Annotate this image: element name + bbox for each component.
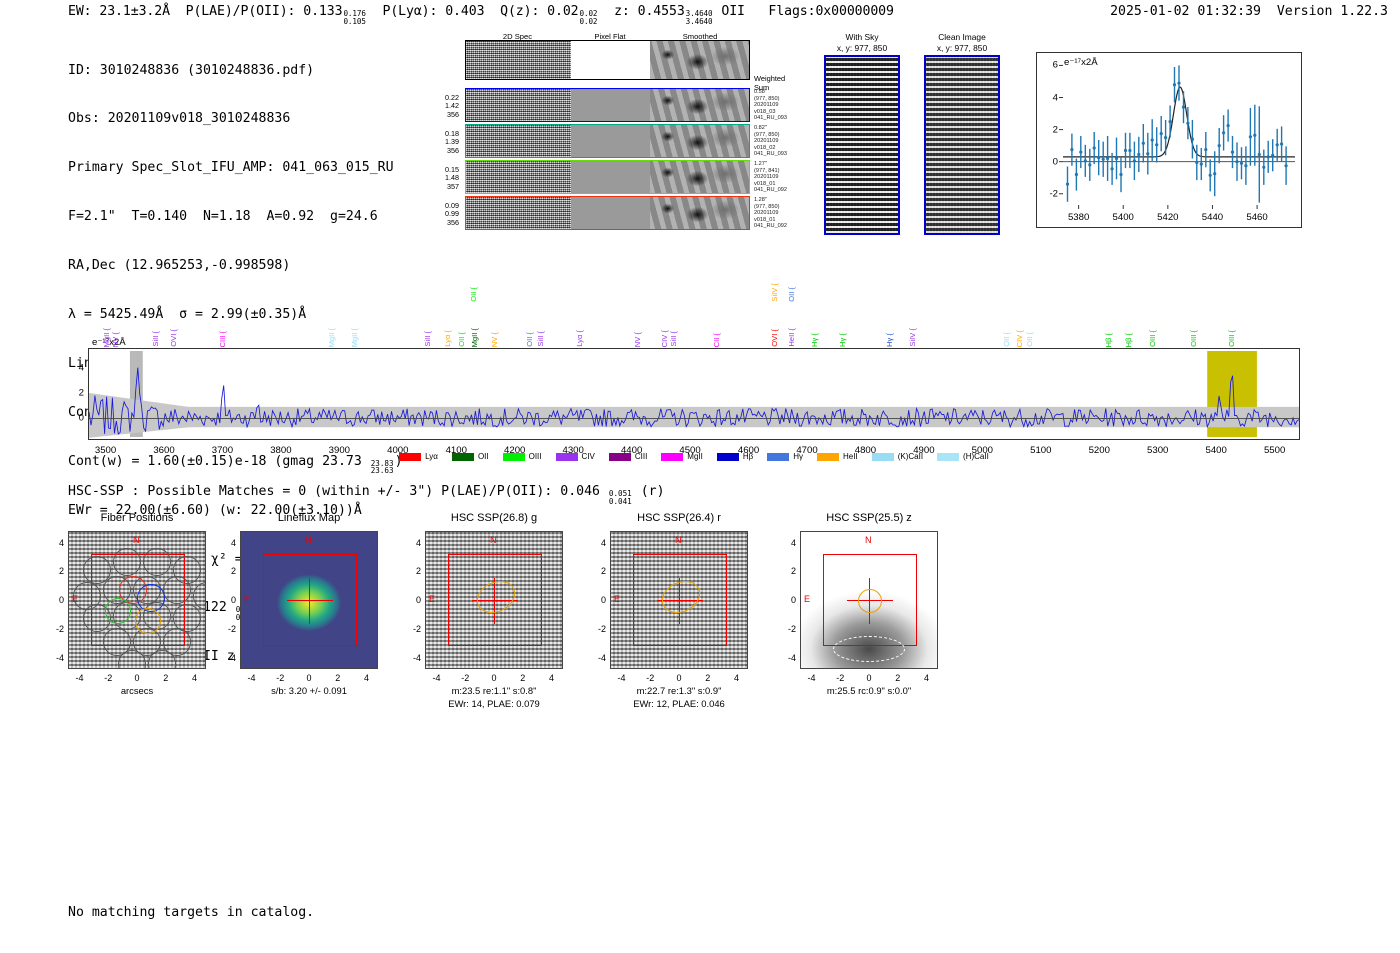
footer-line-1: No matching targets in catalog. [68,905,314,921]
with-sky-title-text: With Sky [845,32,878,42]
spectral-line-label: SiIV { [908,328,917,347]
panel-ytick: -4 [788,653,796,663]
zoom-plot-xtick: 5440 [1202,212,1223,223]
legend-item: CIII [609,452,647,461]
panel-ytick: -4 [413,653,421,663]
panel-xtick: -2 [836,673,844,683]
zoom-plot-ytick: 6 [1040,60,1058,71]
panel-xtick: 4 [192,673,197,683]
spec2d-row-metrics: 0.15 1.48 357 [425,166,459,191]
zoom-plot-ytick: -2 [1040,188,1058,199]
legend-label: OIII [529,452,542,461]
panel-ytick: -2 [788,624,796,634]
panel-image-frame[interactable]: NE [240,531,378,669]
flags-value: Flags:0x00000009 [768,4,893,19]
panel-caption: m:22.7 re:1.3" s:0.9" [637,684,722,697]
pixel-flat-image [571,41,650,79]
spec2d-row-fiber-info: 0.58" (977, 850) 20201109 v018_03 041_RU… [754,89,814,122]
zoom-plot-ytick: 4 [1040,92,1058,103]
spectral-line-label: Lyα { [443,330,452,347]
spectral-line-label: OVI { [169,329,178,347]
spectral-line-label: OII { [1002,332,1011,347]
legend-label: Hβ [743,452,753,461]
legend-swatch [872,453,894,461]
plya-label: P(Lyα): [382,4,437,19]
spec2d-row-fiber-info: 1.27" (977, 841) 20201109 v018_01 041_RU… [754,161,814,194]
hsc-ssp-match-line: HSC-SSP : Possible Matches = 0 (within +… [68,484,665,505]
legend-swatch [556,453,578,461]
full-spectrum-canvas [89,349,1299,439]
legend-label: HeII [843,452,858,461]
panel-ytick: -2 [598,624,606,634]
panel-xlabel: arcsecs [121,684,153,697]
panel-ytick: 2 [59,566,64,576]
panel-xtick: 0 [491,673,496,683]
spectral-line-label: Hγ { [885,333,894,347]
panel-frame-wrap: NE-4-4-2-2002244 [800,531,938,669]
zoom-plot-xtick: 5460 [1246,212,1267,223]
spec2d-row-images [465,196,750,230]
qz-bounds: 0.020.02 [580,10,598,25]
zoom-plot-ytick: 0 [1040,156,1058,167]
spectral-line-label: MgII { [327,328,336,347]
spectral-line-label: HeII { [787,328,796,347]
zoom-plot-ytick: 2 [1040,124,1058,135]
spectral-line-label: NV { [633,332,642,347]
panel-xtick: 4 [734,673,739,683]
panel-xtick: -2 [461,673,469,683]
legend-label: OII [478,452,489,461]
panel-ytick: 0 [231,595,236,605]
spec2d-row-metrics: 0.18 1.39 356 [425,130,459,155]
hsc-suffix: (r) [633,484,665,499]
clean-image-title: Clean Image x, y: 977, 850 [924,32,1000,53]
pixel-flat-image [571,197,650,229]
image-panel-gray-ellipse: HSC SSP(26.4) rNE-4-4-2-2002244m:22.7 re… [610,512,748,669]
spec2d-row-fiber-info: 1.28" (977, 850) 20201109 v018_01 041_RU… [754,197,814,230]
spec2d-row [465,160,750,194]
panel-ytick: -2 [228,624,236,634]
spectral-line-label: CIV { [1015,330,1024,347]
spectral-line-label: MgII { [350,328,359,347]
full-spectrum-ytick: 2 [79,388,84,399]
legend-item: MgII [661,452,703,461]
info-seeing: F=2.1" T=0.140 N=1.18 A=0.92 g=24.6 [68,209,403,225]
east-label: E [244,594,250,604]
spec2d-row [465,196,750,230]
spec2d-row-images [465,40,750,80]
spectral-line-label: OII { [1025,332,1034,347]
zoom-plot-xtick: 5400 [1113,212,1134,223]
spectral-line-label: Hγ { [810,333,819,347]
panel-ytick: 0 [601,595,606,605]
panel-ytick: 2 [416,566,421,576]
panel-title: HSC SSP(25.5) z [800,512,938,526]
panel-caption: m:23.5 re:1.1" s:0.8" [452,684,537,697]
panel-title: Fiber Positions [68,512,206,526]
spectral-line-label: Lyα { [575,330,584,347]
panel-ytick: -4 [228,653,236,663]
spec2d-image [466,125,571,157]
panel-ytick: -2 [413,624,421,634]
hsc-prefix: HSC-SSP : Possible Matches = 0 (within +… [68,484,608,499]
spectral-line-label: OVI { [770,329,779,347]
legend-label: (K)CaII [898,452,923,461]
legend-item: Lyα [399,452,438,461]
panel-ytick: -2 [56,624,64,634]
full-spectrum-ytick: 4 [79,363,84,374]
spectral-line-label: NV { [111,332,120,347]
panel-xtick: 2 [705,673,710,683]
legend-label: (H)CaII [963,452,989,461]
panel-frame-wrap: NE-4-4-2-2002244 [425,531,563,669]
with-sky-panel: With Sky x, y: 977, 850 [824,32,900,235]
spec2d-row [465,124,750,158]
panel-xtick: 4 [924,673,929,683]
panel-xtick: -2 [276,673,284,683]
clean-image-image [924,55,1000,235]
plae-label: P(LAE)/P(OII): [186,4,296,19]
panel-title: HSC SSP(26.8) g [425,512,563,526]
panel-ytick: 4 [416,538,421,548]
legend-item: (K)CaII [872,452,923,461]
clean-image-panel: Clean Image x, y: 977, 850 [924,32,1000,235]
spectral-line-label: MgII { [470,328,479,347]
z-label: z: [614,4,630,19]
panel-ytick: 4 [601,538,606,548]
east-label: E [804,594,810,604]
panel-ytick: 4 [791,538,796,548]
legend-item: Hβ [717,452,753,461]
spectral-line-label: SiII { [423,331,432,347]
smoothed-image [650,41,749,79]
hsc-plae-bounds: 0.0510.041 [609,490,632,505]
legend-swatch [609,453,631,461]
info-radec: RA,Dec (12.965253,-0.998598) [68,258,403,274]
spectral-line-label: OII { [469,287,478,302]
spec2d-row-images [465,88,750,122]
fiber-highlight-green [105,598,131,624]
legend-item: Hγ [767,452,803,461]
panel-image-frame[interactable]: NE [610,531,748,669]
spec2d-row-images [465,160,750,194]
legend-item: HeII [817,452,858,461]
panel-xtick: 0 [866,673,871,683]
with-sky-image [824,55,900,235]
spectral-line-label: CII { [712,333,721,347]
north-label: N [865,535,872,545]
east-label: E [429,594,435,604]
pixel-flat-image [571,125,650,157]
spectral-line-label: OII { [787,287,796,302]
full-spectrum-plot: e⁻¹⁷x2Å 35003600370038003900400041004200… [88,348,1300,440]
panel-xtick: -2 [646,673,654,683]
spec2d-row-metrics: 0.09 0.99 356 [425,202,459,227]
legend-item: CIV [556,452,595,461]
spectral-line-label: CIII { [218,331,227,347]
panel-xtick: 2 [895,673,900,683]
legend-swatch [817,453,839,461]
source-circle [858,589,882,613]
panel-ytick: 0 [416,595,421,605]
zoom-plot-axes [1036,52,1302,228]
footer-note: No matching targets in catalog. Row inte… [68,872,314,953]
summary-header: EW: 23.1±3.2Å P(LAE)/P(OII): 0.1330.1760… [68,4,894,25]
panel-image-frame[interactable]: NE [800,531,938,669]
panel-ytick: 2 [791,566,796,576]
fiber-circle [113,548,141,576]
image-panel-gray-ellipse: HSC SSP(26.8) gNE-4-4-2-2002244m:23.5 re… [425,512,563,669]
z-type: OII [721,4,745,19]
panel-ytick: 2 [231,566,236,576]
spec2d-panel-group: 2D Spec Pixel Flat Smoothed Weighted Sum… [425,32,785,247]
panel-xtick: 2 [520,673,525,683]
spectral-line-label: SiIV { [770,283,779,302]
z-bounds: 3.46403.4640 [686,10,713,25]
legend-swatch [937,453,959,461]
legend-swatch [717,453,739,461]
ew-label: EW: [68,4,92,19]
spectral-line-label: Hγ { [838,333,847,347]
legend-label: MgII [687,452,703,461]
panel-ytick: 0 [791,595,796,605]
gmag-bounds: 23.8323.63 [371,460,394,475]
panel-xtick: 4 [364,673,369,683]
panel-caption: m:25.5 rc:0.9" s:0.0" [827,684,911,697]
spec2d-row-fiber-info: 0.82" (977, 850) 20201109 v018_02 041_RU… [754,125,814,158]
spectral-line-label: OIII { [1189,330,1198,347]
spectral-line-label: SiII { [151,331,160,347]
smoothed-image [650,197,749,229]
zoom-plot-canvas [1037,53,1301,227]
spec2d-image [466,41,571,79]
spec2d-image [466,197,571,229]
spec2d-row [465,88,750,122]
panel-ytick: -4 [598,653,606,663]
image-panel-lineflux: Lineflux MapNE-4-4-2-2002244s/b: 3.20 +/… [240,512,378,669]
plya-value: 0.403 [445,4,484,19]
legend-swatch [767,453,789,461]
crosshair-vertical [309,578,310,624]
panel-title: HSC SSP(26.4) r [610,512,748,526]
header-timestamp-version: 2025-01-02 01:32:39 Version 1.22.3 [1110,4,1388,19]
ew-value: 23.1±3.2Å [99,4,170,19]
spectral-line-label: Hβ { [1124,333,1133,348]
timestamp: 2025-01-02 01:32:39 [1110,4,1261,19]
legend-label: Hγ [793,452,803,461]
panel-ytick: 4 [231,538,236,548]
spec2d-image [466,161,571,193]
legend-item: OII [452,452,489,461]
panel-xtick: -4 [617,673,625,683]
clean-image-title-text: Clean Image [938,32,986,42]
east-label: E [614,594,620,604]
panel-ytick: 4 [59,538,64,548]
with-sky-title: With Sky x, y: 977, 850 [824,32,900,53]
north-label: N [305,535,312,545]
panel-xtick: -4 [432,673,440,683]
spec2d-row [465,40,750,80]
panel-ytick: -4 [56,653,64,663]
spectral-line-label: MgII { [102,328,111,347]
info-primary-spec: Primary Spec_Slot_IFU_AMP: 041_063_015_R… [68,160,403,176]
spectral-line-label: Hβ { [1104,333,1113,348]
zoom-plot-unit-label: e⁻¹⁷x2Å [1064,57,1098,68]
zoom-plot-xtick: 5380 [1068,212,1089,223]
panel-title: Lineflux Map [240,512,378,526]
legend-swatch [503,453,525,461]
panel-xtick: 2 [335,673,340,683]
emission-line-zoom-plot: e⁻¹⁷x2Å 53805400542054405460-20246 [1036,52,1302,228]
smoothed-image [650,89,749,121]
panel-ytick: 0 [59,595,64,605]
legend-label: Lyα [425,452,438,461]
spectral-line-label: CIV { [660,330,669,347]
panel-caption-2: EWr: 14, PLAE: 0.079 [448,697,540,710]
info-id: ID: 3010248836 (3010248836.pdf) [68,63,403,79]
panel-xtick: -4 [247,673,255,683]
fiber-circle [163,576,191,604]
legend-item: (H)CaII [937,452,989,461]
panel-frame-wrap: NE-4-4-2-2002244 [610,531,748,669]
image-panel-gradient: HSC SSP(25.5) zNE-4-4-2-2002244m:25.5 rc… [800,512,938,669]
plae-value: 0.133 [303,4,342,19]
with-sky-coords: x, y: 977, 850 [837,43,887,53]
version: Version 1.22.3 [1277,4,1388,19]
fiber-highlight-orange [135,608,161,634]
panel-image-frame[interactable]: NE [68,531,206,669]
legend-label: CIII [635,452,647,461]
panel-frame-wrap: NE-4-4-2-2002244 [240,531,378,669]
legend-swatch [399,453,421,461]
north-label: N [490,535,497,545]
panel-xtick: -4 [807,673,815,683]
spec2d-row-metrics: 0.22 1.42 356 [425,94,459,119]
info-obs: Obs: 20201109v018_3010248836 [68,111,403,127]
z-value: 0.4553 [638,4,685,19]
spectral-line-label: OIII { [1148,330,1157,347]
full-spectrum-legend: LyαOIIOIIICIVCIIIMgIIHβHγHeII(K)CaII(H)C… [88,452,1300,461]
fiber-circle [143,548,171,576]
plae-bounds: 0.1760.105 [343,10,365,25]
panel-xtick: -2 [104,673,112,683]
qz-label: Q(z): [500,4,539,19]
panel-xtick: 0 [676,673,681,683]
panel-image-frame[interactable]: NE [425,531,563,669]
legend-swatch [452,453,474,461]
spectral-line-label: NV { [490,332,499,347]
full-spectrum-axes [88,348,1300,440]
spectral-line-label: OII { [525,332,534,347]
info-lambda: λ = 5425.49Å σ = 2.99(±0.35)Å [68,307,403,323]
spectral-line-label: OII { [457,332,466,347]
panel-caption: s/b: 3.20 +/- 0.091 [271,684,347,697]
spectral-line-label: OIII { [1227,330,1236,347]
panel-xtick: 4 [549,673,554,683]
legend-item: OIII [503,452,542,461]
panel-xtick: 0 [306,673,311,683]
smoothed-image [650,125,749,157]
spec2d-row-images [465,124,750,158]
panel-xtick: 2 [163,673,168,683]
smoothed-image [650,161,749,193]
pixel-flat-image [571,161,650,193]
full-spectrum-ytick: 0 [79,412,84,423]
panel-ytick: 2 [601,566,606,576]
panel-xtick: 0 [134,673,139,683]
panel-caption-2: EWr: 12, PLAE: 0.046 [633,697,725,710]
extended-source-ellipse [833,636,905,662]
image-panel-fibers: Fiber PositionsNE-4-4-2-2002244arcsecs [68,512,206,669]
spectral-line-label: SiII { [536,331,545,347]
clean-image-coords: x, y: 977, 850 [937,43,987,53]
spec2d-image [466,89,571,121]
legend-label: CIV [582,452,595,461]
legend-swatch [661,453,683,461]
north-label: N [133,535,140,545]
spectral-line-label: SiII { [669,331,678,347]
north-label: N [675,535,682,545]
panel-frame-wrap: NE-4-4-2-2002244 [68,531,206,669]
qz-value: 0.02 [547,4,578,19]
zoom-plot-xtick: 5420 [1157,212,1178,223]
pixel-flat-image [571,89,650,121]
panel-xtick: -4 [75,673,83,683]
